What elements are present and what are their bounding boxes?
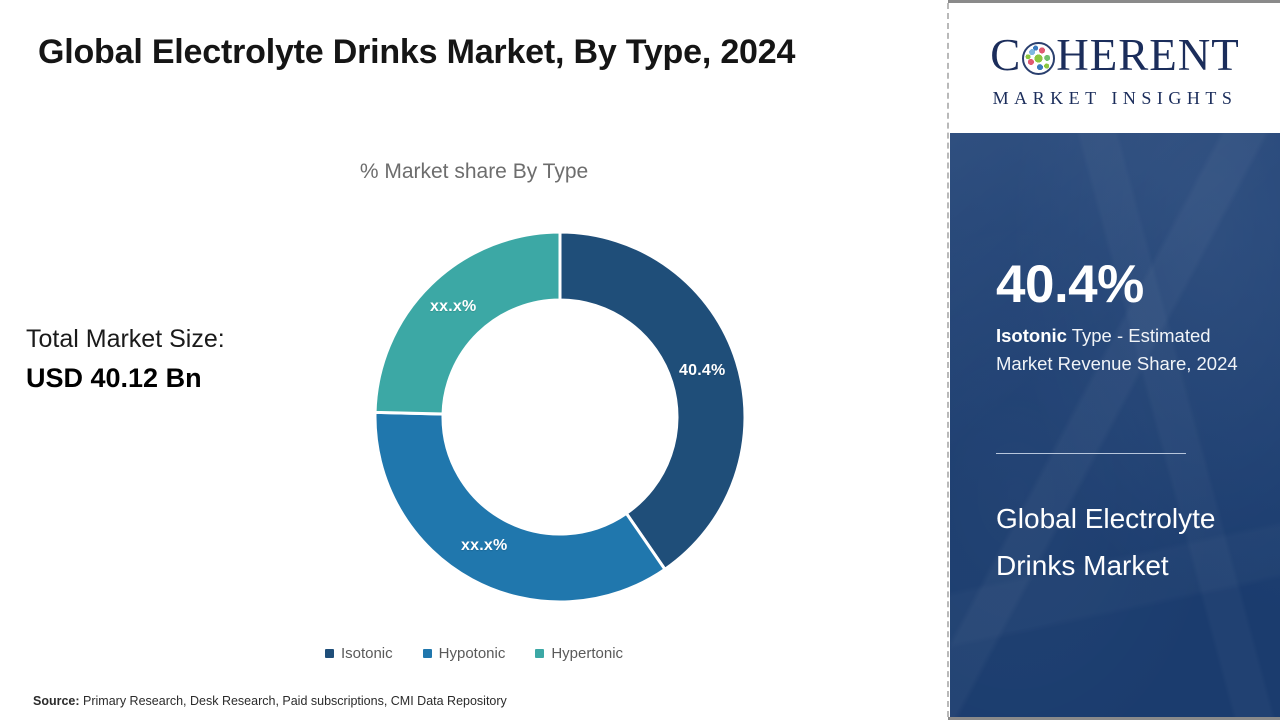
left-content-pane: Global Electrolyte Drinks Market, By Typ… [0, 0, 948, 720]
donut-chart [373, 230, 747, 604]
highlight-stat-description: Isotonic Type - Estimated Market Revenue… [996, 322, 1248, 378]
brand-name-rest: HERENT [1056, 33, 1239, 78]
slice-label-hypotonic: xx.x% [461, 537, 507, 555]
highlight-stat-number: 40.4% [996, 257, 1144, 313]
donut-slice-group [375, 232, 745, 602]
panel-divider-rule [996, 453, 1186, 454]
right-sidebar-pane: C HERENT MARKET INSIGHTS 40.4% Isotonic … [950, 0, 1280, 720]
highlight-stat-type-name: Isotonic [996, 325, 1067, 346]
legend-label-hypotonic: Hypotonic [439, 645, 506, 662]
donut-slice-hypertonic[interactable] [375, 232, 560, 414]
total-market-size-value: USD 40.12 Bn [26, 359, 326, 397]
chart-subtitle: % Market share By Type [0, 160, 948, 184]
total-market-size-block: Total Market Size: USD 40.12 Bn [26, 322, 326, 397]
highlight-panel: 40.4% Isotonic Type - Estimated Market R… [950, 133, 1280, 717]
source-prefix-label: Source: [33, 694, 80, 708]
brand-logo-wordmark: C HERENT [990, 28, 1240, 84]
legend-swatch-icon-hypertonic [535, 649, 544, 658]
donut-slice-isotonic[interactable] [560, 232, 745, 569]
brand-tagline: MARKET INSIGHTS [993, 88, 1238, 109]
donut-slice-hypotonic[interactable] [375, 412, 665, 602]
legend-label-hypertonic: Hypertonic [551, 645, 623, 662]
source-text: Primary Research, Desk Research, Paid su… [83, 694, 507, 708]
panel-market-title: Global Electrolyte Drinks Market [996, 495, 1246, 589]
brand-name-first-letter: C [990, 33, 1021, 78]
chart-legend: Isotonic Hypotonic Hypertonic [0, 645, 948, 662]
legend-swatch-icon-isotonic [325, 649, 334, 658]
brand-logo: C HERENT MARKET INSIGHTS [950, 3, 1280, 133]
legend-swatch-icon-hypotonic [423, 649, 432, 658]
donut-chart-svg [373, 230, 747, 604]
page-title: Global Electrolyte Drinks Market, By Typ… [38, 33, 795, 72]
infographic-canvas: Global Electrolyte Drinks Market, By Typ… [0, 0, 1280, 720]
total-market-size-label: Total Market Size: [26, 322, 326, 356]
slice-label-isotonic: 40.4% [679, 362, 725, 380]
legend-item-hypotonic[interactable]: Hypotonic [423, 645, 506, 662]
legend-label-isotonic: Isotonic [341, 645, 393, 662]
globe-dots-icon [1022, 42, 1055, 75]
pane-divider [947, 3, 949, 717]
legend-item-isotonic[interactable]: Isotonic [325, 645, 393, 662]
source-line: Source: Primary Research, Desk Research,… [33, 694, 507, 708]
legend-item-hypertonic[interactable]: Hypertonic [535, 645, 623, 662]
panel-texture-overlay [950, 133, 1280, 717]
slice-label-hypertonic: xx.x% [430, 298, 476, 316]
